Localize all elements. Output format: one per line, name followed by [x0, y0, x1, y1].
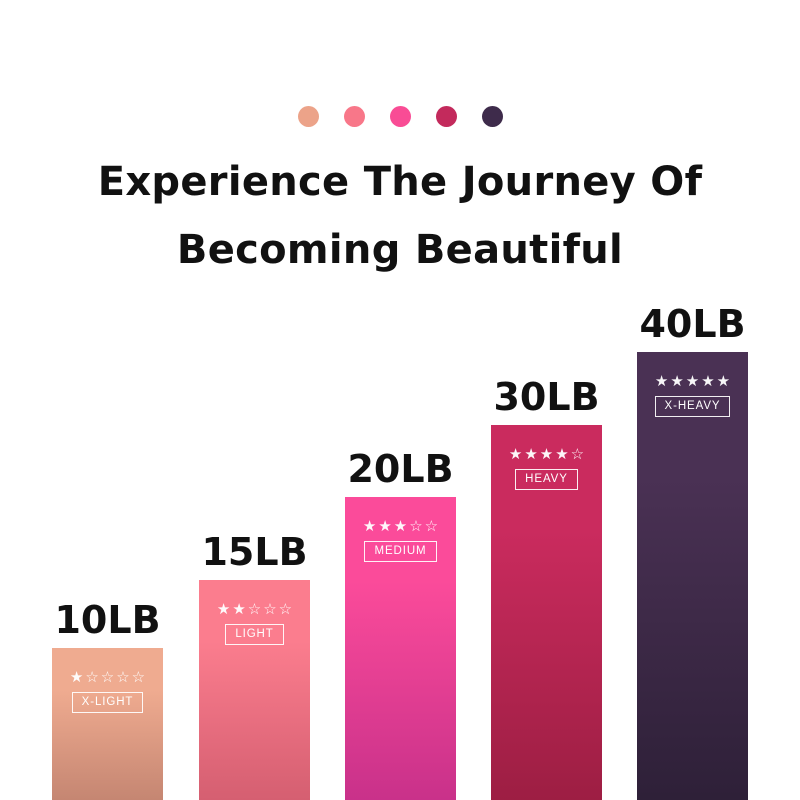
star-empty-icon: ☆ — [116, 670, 129, 685]
bar-group-40lb[interactable]: 40LB★★★★★X-HEAVY — [637, 352, 748, 800]
tier-label: MEDIUM — [364, 541, 436, 562]
bar-group-10lb[interactable]: 10LB★☆☆☆☆X-LIGHT — [52, 648, 163, 800]
rating-stars: ★☆☆☆☆ — [70, 670, 145, 685]
star-empty-icon: ☆ — [248, 602, 261, 617]
bar-badge: ★★★☆☆MEDIUM — [345, 519, 456, 562]
star-filled-icon: ★ — [717, 374, 730, 389]
star-filled-icon: ★ — [363, 519, 376, 534]
resistance-bar-chart: 10LB★☆☆☆☆X-LIGHT15LB★★☆☆☆LIGHT20LB★★★☆☆M… — [0, 0, 800, 800]
tier-label: X-LIGHT — [72, 692, 144, 713]
bar-group-20lb[interactable]: 20LB★★★☆☆MEDIUM — [345, 497, 456, 800]
bar-value-label: 10LB — [54, 600, 160, 640]
star-filled-icon: ★ — [509, 447, 522, 462]
bar-badge: ★★★★★X-HEAVY — [637, 374, 748, 417]
rating-stars: ★★★☆☆ — [363, 519, 438, 534]
bar-value-label: 40LB — [639, 304, 745, 344]
bar-group-15lb[interactable]: 15LB★★☆☆☆LIGHT — [199, 580, 310, 800]
star-filled-icon: ★ — [655, 374, 668, 389]
bar-fill[interactable]: ★★★☆☆MEDIUM — [345, 497, 456, 800]
star-filled-icon: ★ — [686, 374, 699, 389]
bar-fill[interactable]: ★★★★★X-HEAVY — [637, 352, 748, 800]
promo-banner: Experience The Journey Of Becoming Beaut… — [0, 0, 800, 800]
star-empty-icon: ☆ — [279, 602, 292, 617]
bar-fill[interactable]: ★☆☆☆☆X-LIGHT — [52, 648, 163, 800]
star-empty-icon: ☆ — [85, 670, 98, 685]
bar-gradient — [637, 352, 748, 800]
star-filled-icon: ★ — [524, 447, 537, 462]
rating-stars: ★★★★☆ — [509, 447, 584, 462]
star-filled-icon: ★ — [555, 447, 568, 462]
star-empty-icon: ☆ — [132, 670, 145, 685]
bar-fill[interactable]: ★★★★☆HEAVY — [491, 425, 602, 800]
rating-stars: ★★★★★ — [655, 374, 730, 389]
bar-badge: ★☆☆☆☆X-LIGHT — [52, 670, 163, 713]
star-filled-icon: ★ — [540, 447, 553, 462]
star-empty-icon: ☆ — [571, 447, 584, 462]
tier-label: X-HEAVY — [655, 396, 731, 417]
bar-fill[interactable]: ★★☆☆☆LIGHT — [199, 580, 310, 800]
bar-value-label: 30LB — [493, 377, 599, 417]
bar-badge: ★★★★☆HEAVY — [491, 447, 602, 490]
star-filled-icon: ★ — [394, 519, 407, 534]
bar-group-30lb[interactable]: 30LB★★★★☆HEAVY — [491, 425, 602, 800]
tier-label: LIGHT — [225, 624, 283, 645]
star-filled-icon: ★ — [232, 602, 245, 617]
star-filled-icon: ★ — [670, 374, 683, 389]
bar-badge: ★★☆☆☆LIGHT — [199, 602, 310, 645]
star-filled-icon: ★ — [701, 374, 714, 389]
star-empty-icon: ☆ — [409, 519, 422, 534]
star-filled-icon: ★ — [70, 670, 83, 685]
star-empty-icon: ☆ — [425, 519, 438, 534]
star-empty-icon: ☆ — [263, 602, 276, 617]
bar-value-label: 15LB — [201, 532, 307, 572]
star-filled-icon: ★ — [378, 519, 391, 534]
rating-stars: ★★☆☆☆ — [217, 602, 292, 617]
star-filled-icon: ★ — [217, 602, 230, 617]
bar-value-label: 20LB — [347, 449, 453, 489]
star-empty-icon: ☆ — [101, 670, 114, 685]
tier-label: HEAVY — [515, 469, 578, 490]
